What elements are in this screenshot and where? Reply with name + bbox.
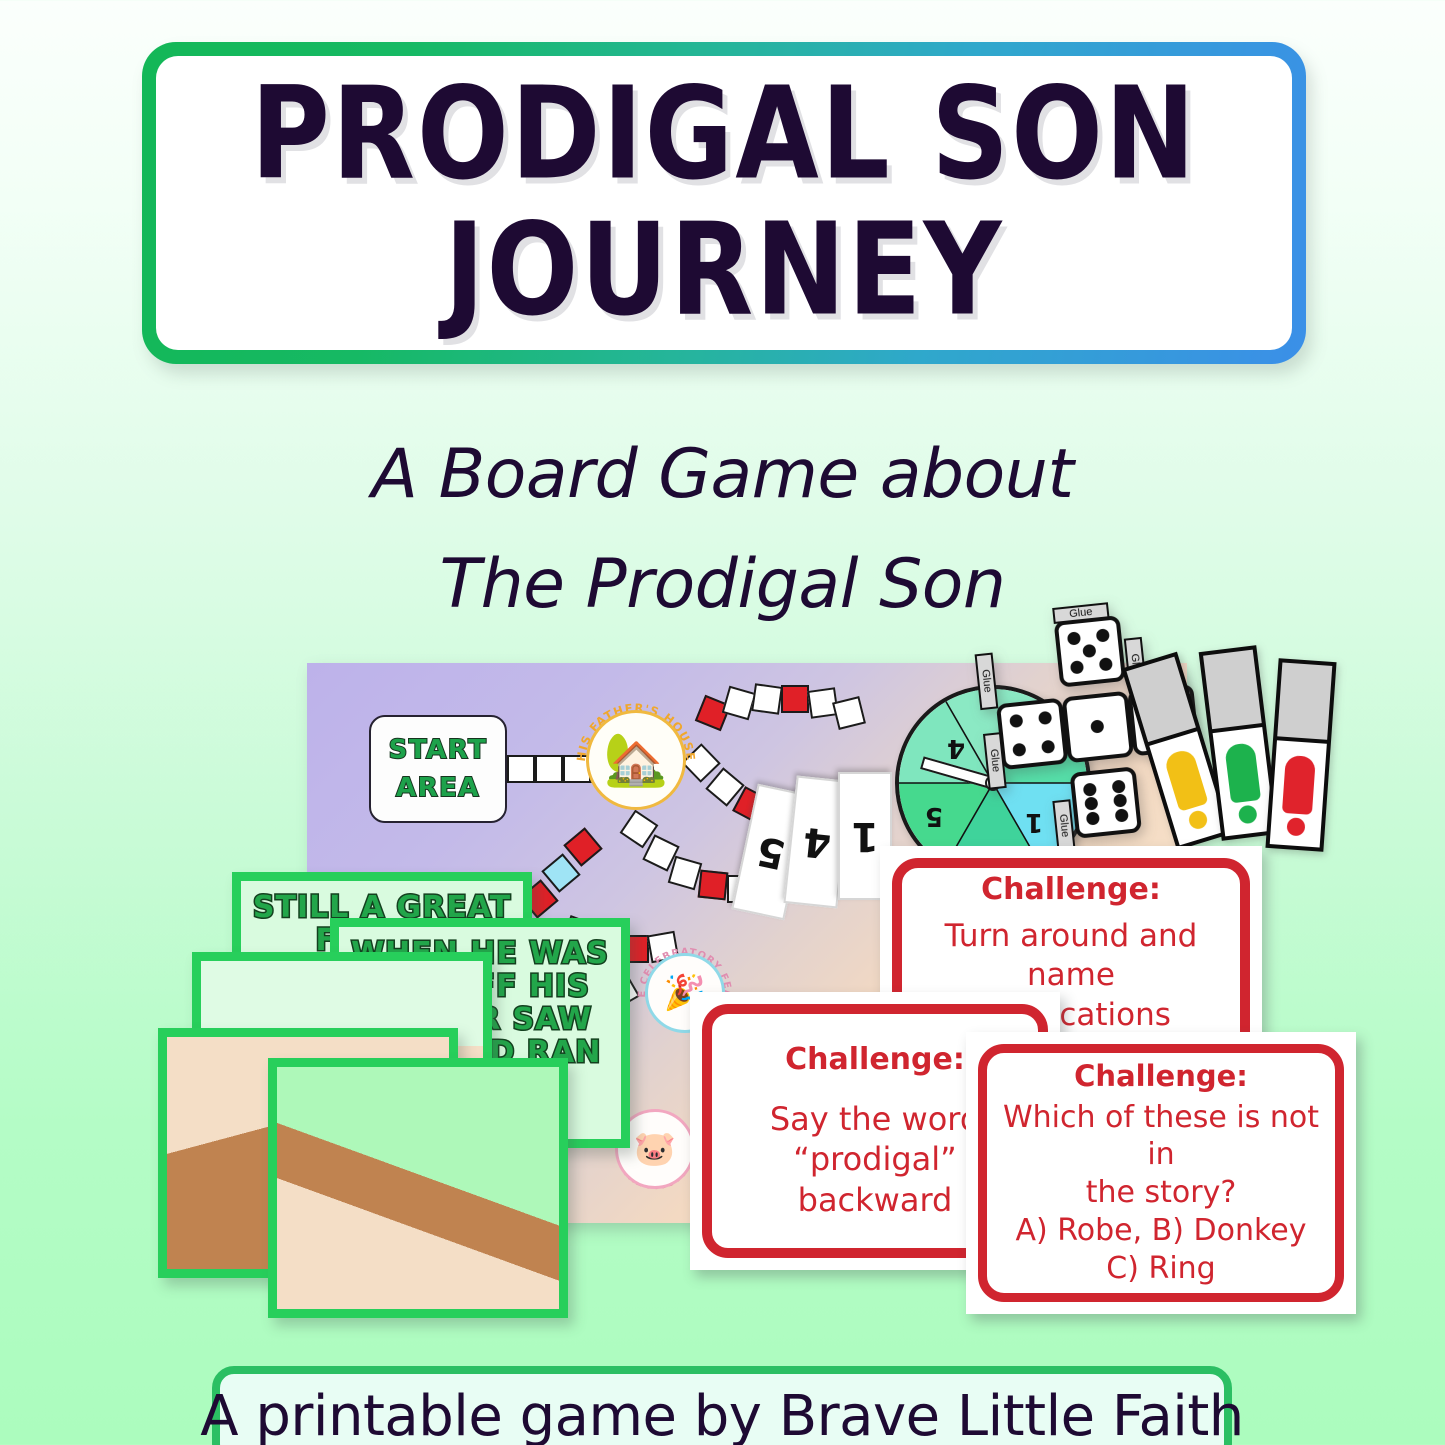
challenge-card-inner: Challenge: Which of these is not in the … bbox=[978, 1044, 1344, 1302]
player-pawn-red bbox=[1282, 755, 1316, 815]
die-face-1 bbox=[1062, 691, 1135, 764]
challenge-body-line: backward bbox=[798, 1180, 953, 1220]
challenge-body-line: “prodigal” bbox=[793, 1139, 957, 1179]
start-area-word-2: AREA bbox=[396, 773, 480, 803]
title-banner: PRODIGAL SON JOURNEY bbox=[142, 42, 1306, 364]
challenge-body-line: Say the word bbox=[770, 1099, 980, 1139]
path-square bbox=[781, 685, 809, 713]
challenge-body-line: Turn around and name bbox=[916, 917, 1226, 995]
pig-glyph: 🐷 bbox=[634, 1129, 676, 1169]
challenge-body-line: the story? bbox=[1086, 1174, 1237, 1212]
title-banner-inner: PRODIGAL SON JOURNEY bbox=[156, 56, 1292, 350]
path-square bbox=[535, 755, 563, 783]
footer-text: A printable game by Brave Little Faith bbox=[200, 1384, 1244, 1445]
subtitle-line-1: A Board Game about bbox=[0, 420, 1445, 530]
player-stand-top bbox=[1277, 662, 1332, 743]
footer-banner: A printable game by Brave Little Faith bbox=[212, 1366, 1232, 1445]
house-icon: 🏡 bbox=[586, 710, 686, 810]
die-face-4 bbox=[996, 698, 1069, 771]
challenge-heading: Challenge: bbox=[785, 1042, 965, 1077]
page-title-line-1: PRODIGAL SON bbox=[251, 71, 1198, 198]
challenge-body-line: Which of these is not in bbox=[1001, 1099, 1321, 1175]
die-face-6 bbox=[1070, 766, 1143, 839]
challenge-body-line: C) Ring bbox=[1106, 1250, 1215, 1288]
start-area-word-1: START bbox=[389, 735, 488, 765]
location-badge-fathers-house: HIS FATHER'S HOUSE 🏡 bbox=[575, 699, 697, 821]
path-square bbox=[832, 696, 866, 730]
player-pawn-green bbox=[1224, 742, 1261, 803]
path-square bbox=[668, 856, 703, 891]
player-pawn-yellow bbox=[1163, 748, 1209, 812]
path-square bbox=[751, 683, 783, 715]
challenge-heading: Challenge: bbox=[981, 872, 1161, 907]
player-stand-top bbox=[1203, 650, 1262, 734]
page-title-line-2: JOURNEY bbox=[444, 207, 1003, 334]
challenge-body-line: A) Robe, B) Donkey bbox=[1016, 1212, 1307, 1250]
story-card-art bbox=[277, 1067, 559, 1309]
player-stand bbox=[1265, 658, 1336, 852]
path-square bbox=[507, 755, 535, 783]
challenge-card-3: Challenge: Which of these is not in the … bbox=[966, 1032, 1356, 1314]
die-face-5 bbox=[1054, 615, 1127, 688]
path-square bbox=[698, 870, 729, 901]
start-area-box: START AREA bbox=[369, 715, 507, 823]
product-mockup-stage: START AREA bbox=[0, 600, 1445, 1340]
spinner-number-5: 5 bbox=[925, 801, 943, 831]
challenge-heading: Challenge: bbox=[1074, 1059, 1248, 1093]
spinner-number-4: 4 bbox=[947, 733, 965, 763]
player-stands bbox=[1148, 640, 1368, 880]
house-glyph: 🏡 bbox=[604, 734, 669, 786]
story-card bbox=[268, 1058, 568, 1318]
